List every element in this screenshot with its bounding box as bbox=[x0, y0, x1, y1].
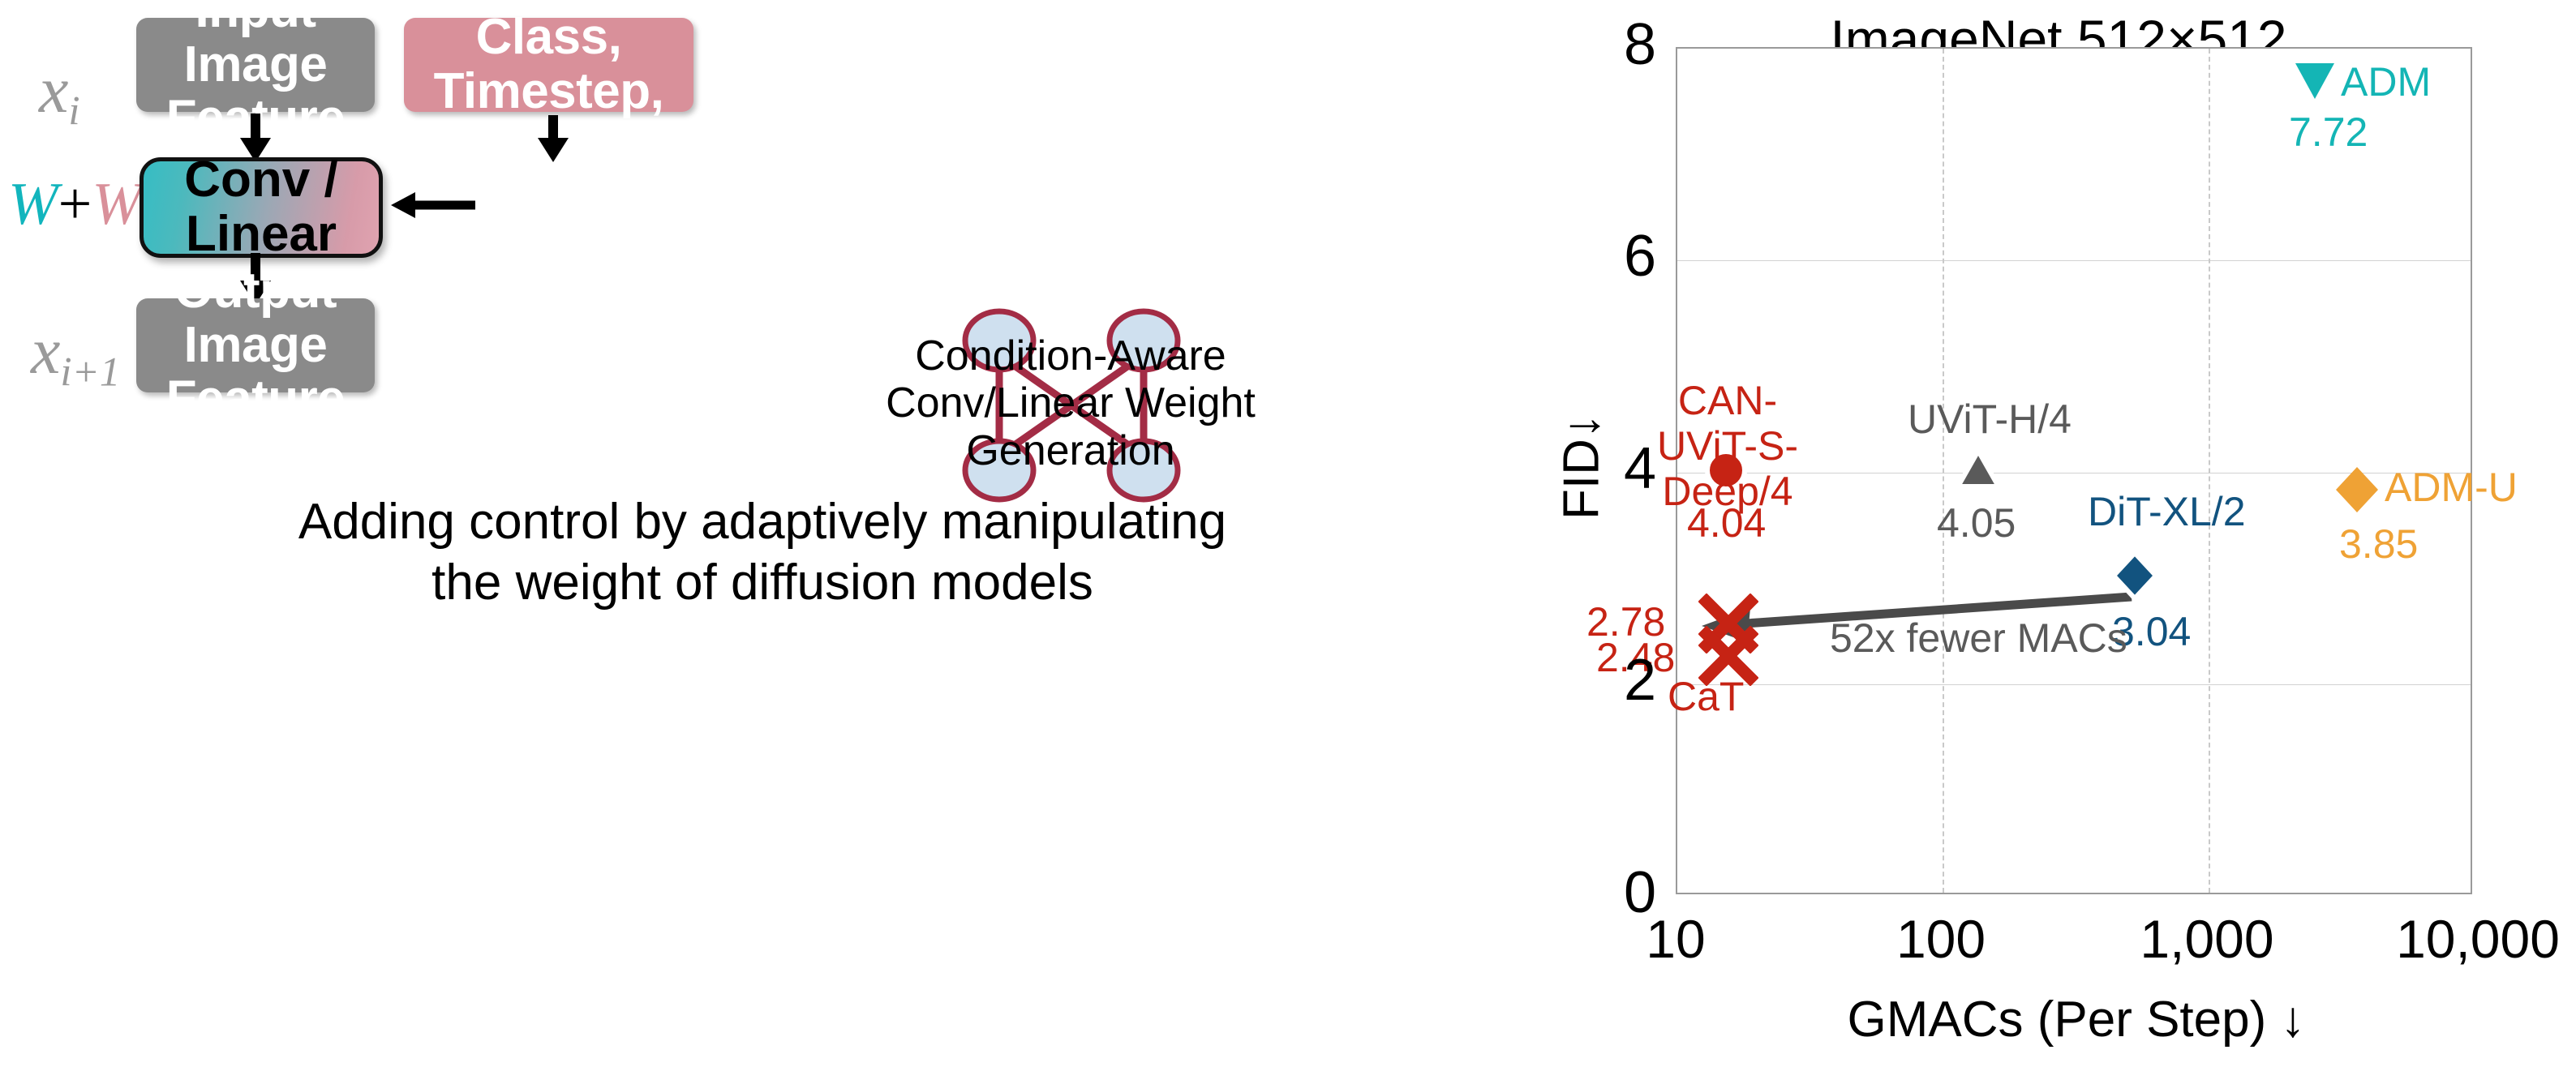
gridline-gmacs-100 bbox=[1943, 49, 1944, 893]
y-axis-label-text: FID↓ bbox=[1554, 414, 1610, 520]
ytick-2: 2 bbox=[1559, 647, 1656, 713]
xtick-1000-text: 1,000 bbox=[2140, 909, 2273, 969]
x-input-subscript: i bbox=[68, 88, 79, 133]
xtick-100: 100 bbox=[1868, 908, 2014, 970]
label-adm-u-text: ADM-U bbox=[2385, 465, 2518, 510]
label-uvit-h-4-text: UViT-H/4 bbox=[1908, 396, 2072, 442]
weight-plus-symbol: + bbox=[58, 171, 92, 238]
gridline-fid-6 bbox=[1677, 260, 2471, 261]
marker-adm bbox=[2289, 58, 2341, 104]
x-axis-label: GMACs (Per Step) ↓ bbox=[1671, 991, 2482, 1048]
label-cat-text: CaT bbox=[1668, 674, 1744, 719]
conv-linear-label: Conv / Linear bbox=[144, 153, 379, 262]
x-axis-label-text: GMACs (Per Step) ↓ bbox=[1848, 992, 2306, 1048]
label-can-uvit-s-deep-4: CAN-UViT-S- Deep/4 bbox=[1638, 332, 1817, 514]
gridline-gmacs-1000 bbox=[2209, 49, 2210, 893]
x-output-symbol: xi+1 bbox=[31, 313, 120, 395]
ytick-6: 6 bbox=[1559, 223, 1656, 289]
label-can-uvit-s-deep-4-text: CAN-UViT-S- Deep/4 bbox=[1657, 378, 1798, 514]
marker-uvit-h-4 bbox=[1953, 446, 2003, 493]
value-adm-u: 3.85 bbox=[2339, 521, 2418, 568]
marker-adm-u bbox=[2331, 464, 2383, 516]
output-image-feature-box: Output Image Feature bbox=[136, 298, 375, 392]
output-image-feature-label: Output Image Feature bbox=[136, 264, 375, 427]
ytick-8: 8 bbox=[1559, 11, 1656, 78]
weight-w-symbol: W bbox=[8, 171, 58, 238]
annotation-fewer-macs-text: 52x fewer MACs bbox=[1830, 615, 2127, 661]
plot-area: ADM 7.72 CAN-UViT-S- Deep/4 4.04 UViT-H/… bbox=[1676, 47, 2472, 894]
value-adm-text: 7.72 bbox=[2289, 109, 2368, 155]
label-uvit-h-4: UViT-H/4 bbox=[1908, 396, 2072, 443]
architecture-diagram: xi Input Image Feature Condition: Class,… bbox=[0, 0, 1541, 1067]
annotation-fewer-macs: 52x fewer MACs bbox=[1830, 615, 2127, 662]
xtick-100-text: 100 bbox=[1896, 909, 1986, 969]
bottom-caption-text: Adding control by adaptively manipulatin… bbox=[298, 494, 1226, 611]
xtick-1000: 1,000 bbox=[2134, 908, 2280, 970]
xtick-10: 10 bbox=[1603, 908, 1749, 970]
condition-box: Condition: Class, Timestep, … bbox=[404, 18, 693, 112]
x-output-subscript: i+1 bbox=[60, 349, 120, 394]
label-adm-text: ADM bbox=[2341, 59, 2431, 105]
ytick-4-text: 4 bbox=[1624, 436, 1656, 501]
value-can-uvit-s-deep-4-text: 4.04 bbox=[1687, 500, 1766, 546]
y-axis-label: FID↓ bbox=[1553, 354, 1611, 581]
gridline-fid-2 bbox=[1677, 684, 2471, 685]
value-uvit-h-4: 4.05 bbox=[1937, 499, 2016, 546]
weight-formula: W+Wc bbox=[8, 170, 158, 244]
bottom-caption: Adding control by adaptively manipulatin… bbox=[16, 430, 1509, 614]
label-cat: CaT bbox=[1668, 673, 1744, 720]
value-adm-u-text: 3.85 bbox=[2339, 521, 2418, 567]
label-dit-xl-2-text: DiT-XL/2 bbox=[2088, 489, 2246, 534]
marker-dit-xl-2 bbox=[2109, 550, 2161, 602]
x-input-symbol: xi bbox=[39, 52, 80, 134]
value-adm: 7.72 bbox=[2289, 109, 2368, 156]
label-dit-xl-2: DiT-XL/2 bbox=[2088, 488, 2246, 535]
conv-linear-box: Conv / Linear bbox=[140, 157, 383, 258]
ytick-2-text: 2 bbox=[1624, 648, 1656, 713]
input-image-feature-box: Input Image Feature bbox=[136, 18, 375, 112]
label-adm-u: ADM-U bbox=[2385, 464, 2518, 511]
label-adm: ADM bbox=[2341, 58, 2431, 105]
arrow-network-to-conv bbox=[391, 185, 480, 225]
xtick-10000-text: 10,000 bbox=[2396, 909, 2560, 969]
weight-wc-symbol: W bbox=[92, 171, 142, 238]
ytick-6-text: 6 bbox=[1624, 224, 1656, 289]
value-can-uvit-s-deep-4: 4.04 bbox=[1687, 499, 1766, 546]
fid-vs-gmacs-chart: ImageNet 512×512 bbox=[1541, 0, 2576, 1067]
xtick-10-text: 10 bbox=[1646, 909, 1705, 969]
x-input-base: x bbox=[39, 53, 68, 126]
xtick-10000: 10,000 bbox=[2385, 908, 2571, 970]
x-output-base: x bbox=[31, 314, 60, 388]
ytick-8-text: 8 bbox=[1624, 12, 1656, 77]
value-uvit-h-4-text: 4.05 bbox=[1937, 500, 2016, 546]
